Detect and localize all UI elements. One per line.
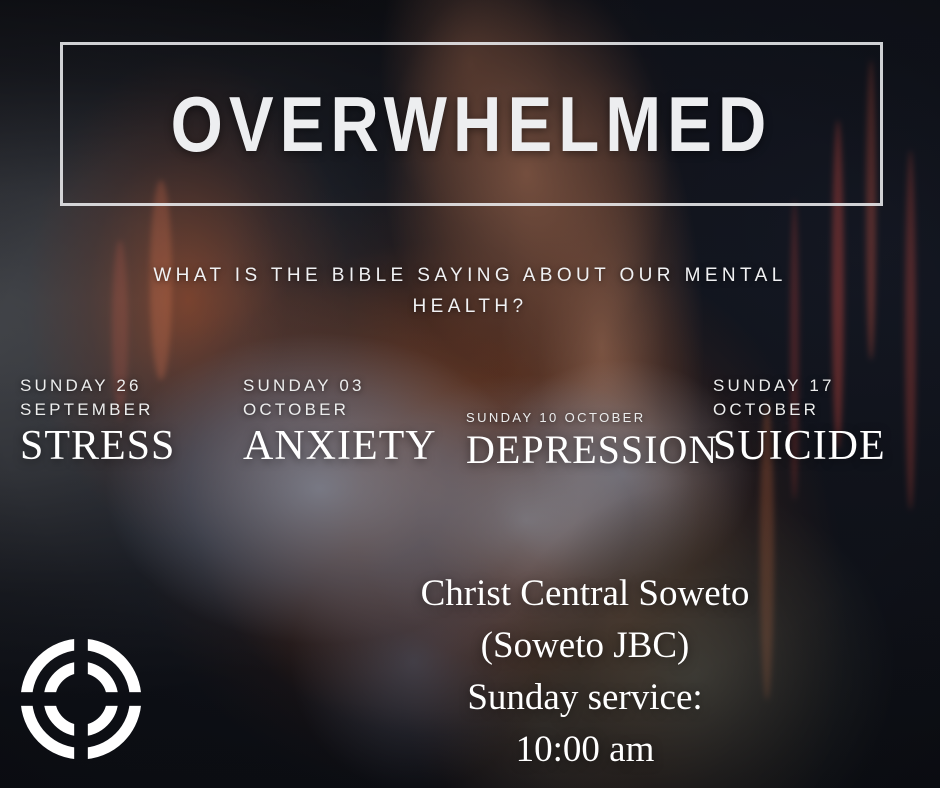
church-alt-name: (Soweto JBC) bbox=[340, 620, 830, 672]
page-title: OVERWHELMED bbox=[118, 42, 826, 206]
session-anxiety-date-line-2: OCTOBER bbox=[243, 398, 443, 422]
session-anxiety: SUNDAY 03 OCTOBER ANXIETY bbox=[243, 374, 443, 468]
session-suicide: SUNDAY 17 OCTOBER SUICIDE bbox=[713, 374, 913, 468]
poster-content: OVERWHELMED WHAT IS THE BIBLE SAYING ABO… bbox=[0, 0, 940, 788]
church-name: Christ Central Soweto bbox=[340, 568, 830, 620]
service-time: 10:00 am bbox=[340, 724, 830, 776]
session-depression: SUNDAY 10 OCTOBER DEPRESSION bbox=[466, 408, 691, 471]
service-label: Sunday service: bbox=[340, 672, 830, 724]
session-depression-topic: DEPRESSION bbox=[466, 430, 691, 471]
session-anxiety-date-line-1: SUNDAY 03 bbox=[243, 374, 443, 398]
session-depression-date-line-1: SUNDAY 10 OCTOBER bbox=[466, 408, 691, 428]
session-stress-topic: STRESS bbox=[20, 425, 210, 468]
session-stress-date-line-2: SEPTEMBER bbox=[20, 398, 210, 422]
target-circle-icon bbox=[18, 632, 144, 766]
poster-canvas: OVERWHELMED WHAT IS THE BIBLE SAYING ABO… bbox=[0, 0, 940, 788]
session-suicide-topic: SUICIDE bbox=[713, 425, 913, 468]
session-anxiety-topic: ANXIETY bbox=[243, 425, 443, 468]
session-suicide-date-line-1: SUNDAY 17 bbox=[713, 374, 913, 398]
church-logo bbox=[18, 632, 144, 766]
church-details: Christ Central Soweto (Soweto JBC) Sunda… bbox=[340, 568, 830, 776]
subtitle-question: WHAT IS THE BIBLE SAYING ABOUT OUR MENTA… bbox=[150, 260, 790, 322]
session-suicide-date-line-2: OCTOBER bbox=[713, 398, 913, 422]
session-stress: SUNDAY 26 SEPTEMBER STRESS bbox=[20, 374, 210, 468]
session-stress-date-line-1: SUNDAY 26 bbox=[20, 374, 210, 398]
